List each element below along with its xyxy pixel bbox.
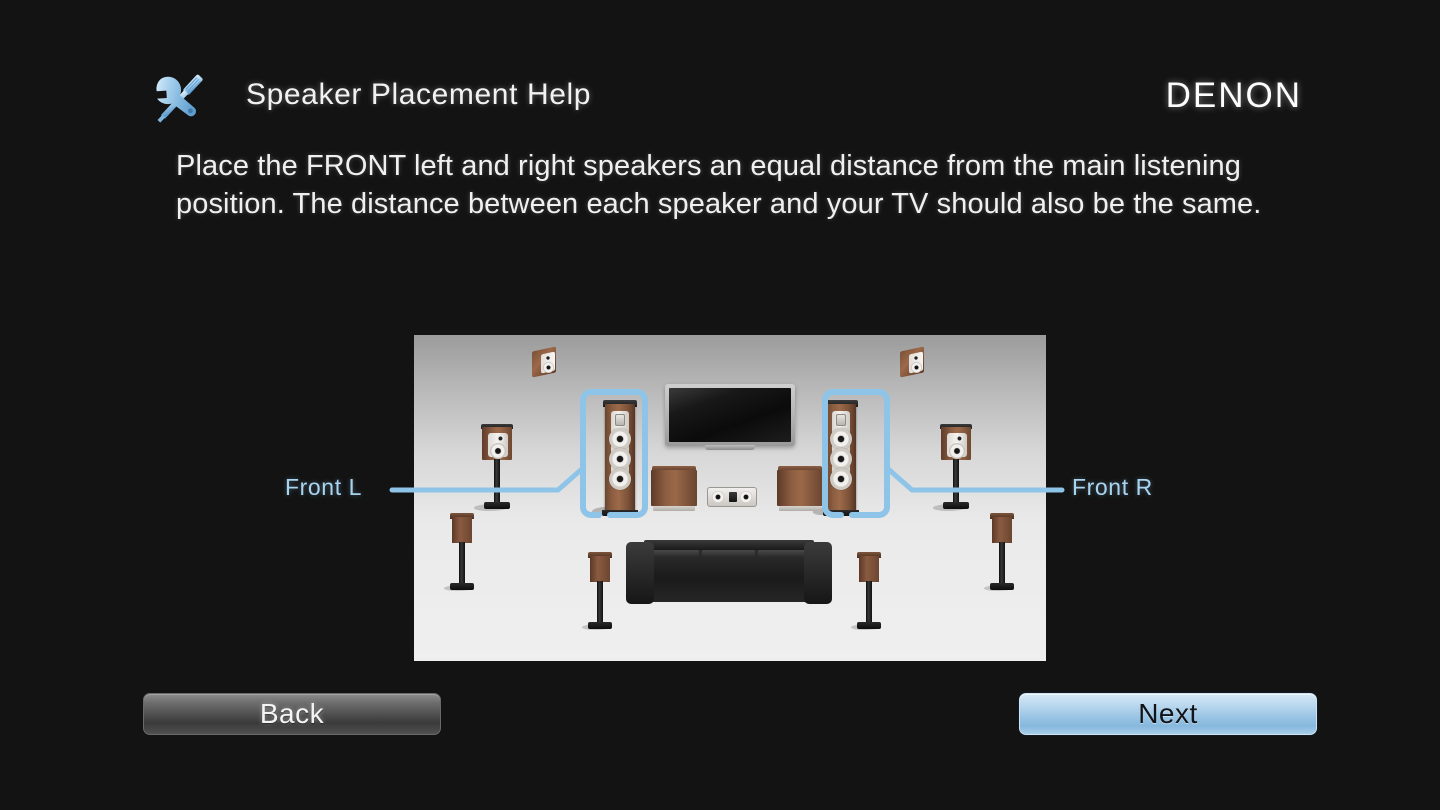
tools-wrench-screwdriver-icon <box>142 66 216 132</box>
next-button[interactable]: Next <box>1019 693 1317 735</box>
speaker-placement-room-diagram <box>414 335 1046 661</box>
page-title: Speaker Placement Help <box>246 78 591 112</box>
surround-right-speaker <box>939 427 973 511</box>
front-height-right-speaker <box>900 347 928 377</box>
subwoofer-left <box>651 466 697 508</box>
rear-right-speaker <box>856 556 882 630</box>
back-button[interactable]: Back <box>143 693 441 735</box>
front-height-left-speaker <box>532 347 560 377</box>
instruction-text: Place the FRONT left and right speakers … <box>176 148 1266 223</box>
television <box>665 384 795 455</box>
front-right-label: Front R <box>1072 474 1153 501</box>
surround-back-right-speaker <box>989 517 1015 591</box>
rear-left-speaker <box>587 556 613 630</box>
header-bar: Speaker Placement Help DENON <box>0 0 1440 145</box>
center-channel-speaker <box>707 487 757 507</box>
front-right-tower-speaker <box>823 398 859 516</box>
subwoofer-right <box>777 466 823 508</box>
surround-back-left-speaker <box>449 517 475 591</box>
denon-setup-assistant-screen: Speaker Placement Help DENON Place the F… <box>0 0 1440 810</box>
denon-brand-logo: DENON <box>1166 76 1302 116</box>
listening-position-sofa <box>626 540 832 608</box>
front-left-label: Front L <box>285 474 362 501</box>
front-left-tower-speaker <box>602 398 638 516</box>
surround-left-speaker <box>480 427 514 511</box>
